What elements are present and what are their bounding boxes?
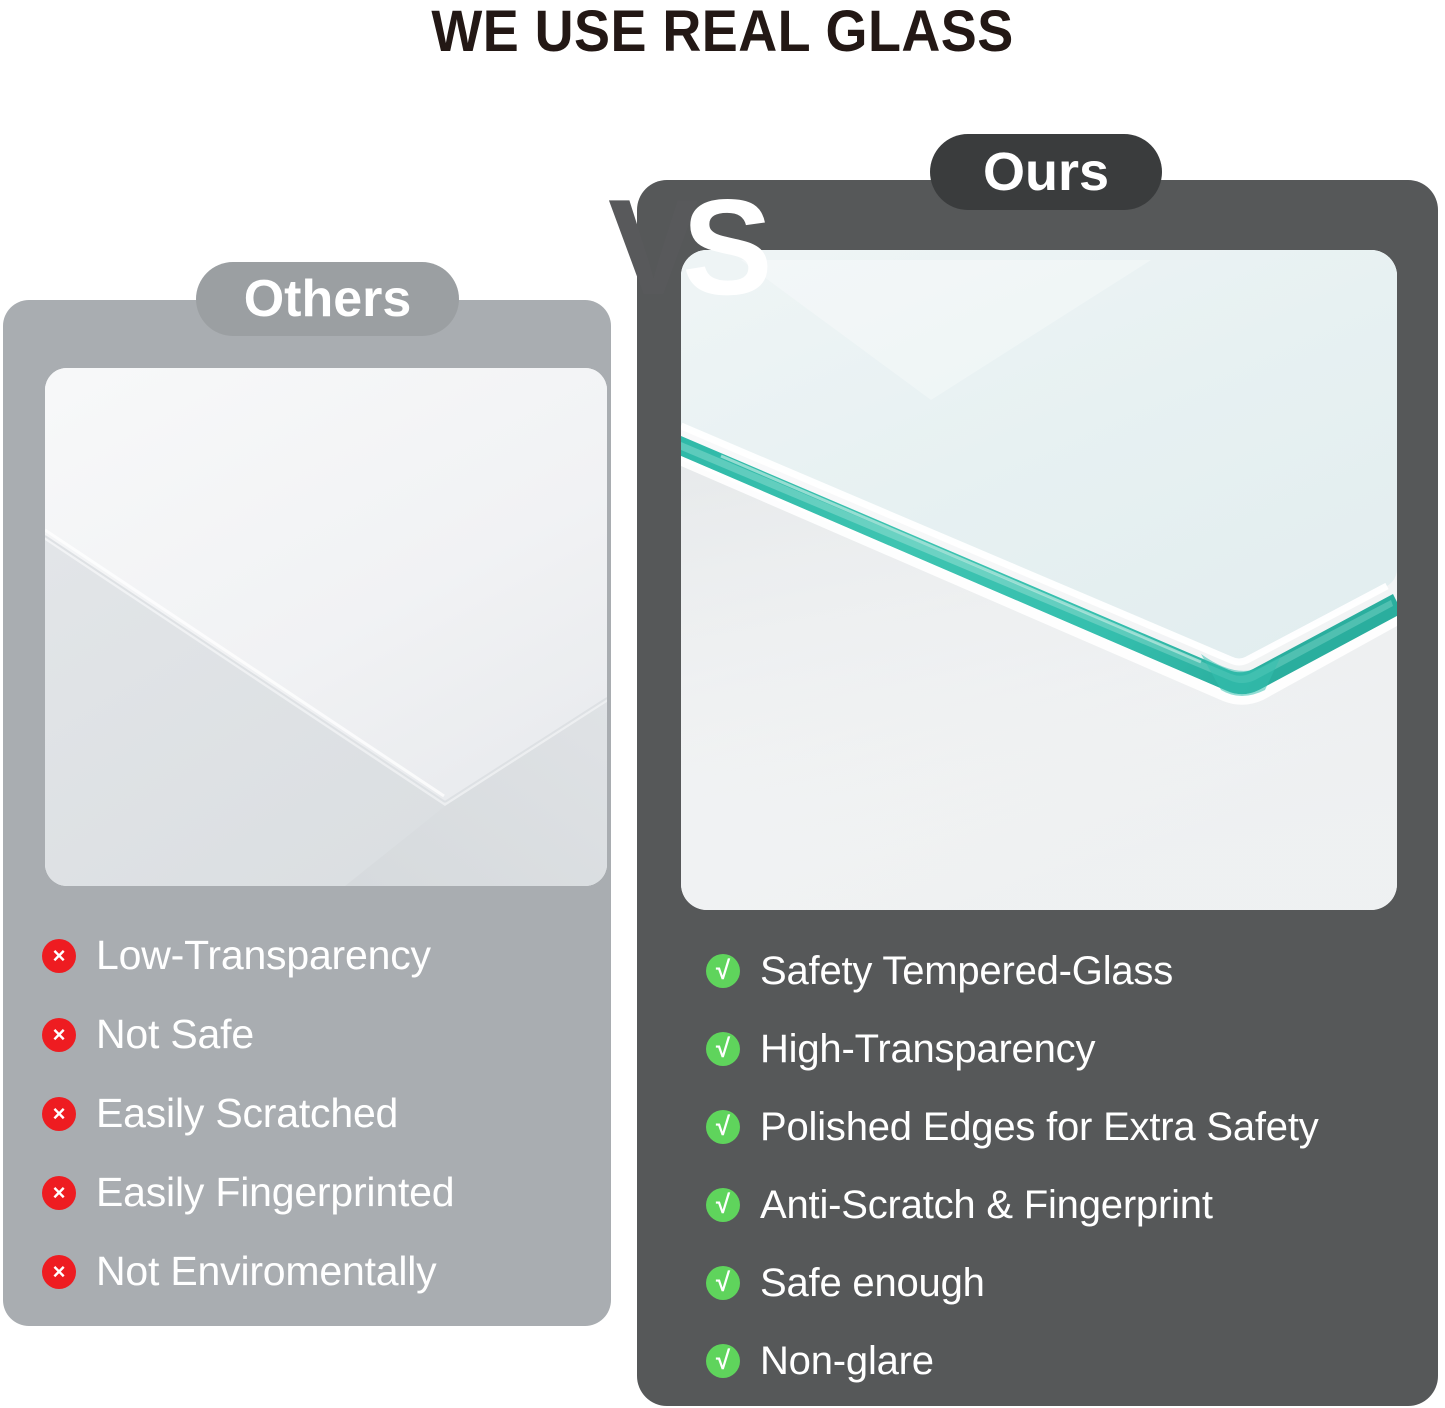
cross-icon: ×: [42, 939, 76, 973]
check-icon: √: [706, 954, 740, 988]
dull-acrylic-sheet-illustration: [45, 368, 607, 886]
others-feature-list: × Low-Transparency × Not Safe × Easily S…: [42, 916, 602, 1311]
list-item: √ High-Transparency: [706, 1010, 1406, 1088]
list-item-label: Non-glare: [760, 1339, 934, 1384]
check-icon: √: [706, 1110, 740, 1144]
list-item-label: Not Enviromentally: [96, 1248, 436, 1295]
list-item-label: Easily Scratched: [96, 1090, 398, 1137]
others-product-photo: [45, 368, 607, 886]
list-item-label: High-Transparency: [760, 1027, 1095, 1072]
ours-badge: Ours: [930, 134, 1162, 210]
cross-icon: ×: [42, 1255, 76, 1289]
list-item: × Easily Scratched: [42, 1074, 602, 1153]
list-item-label: Easily Fingerprinted: [96, 1169, 454, 1216]
check-icon: √: [706, 1188, 740, 1222]
list-item: √ Safety Tempered-Glass: [706, 932, 1406, 1010]
page-title: WE USE REAL GLASS: [51, 2, 1395, 63]
cross-icon: ×: [42, 1176, 76, 1210]
check-icon: √: [706, 1344, 740, 1378]
list-item: × Not Safe: [42, 995, 602, 1074]
cross-icon: ×: [42, 1018, 76, 1052]
list-item: √ Safe enough: [706, 1244, 1406, 1322]
others-badge-label: Others: [244, 269, 412, 329]
ours-feature-list: √ Safety Tempered-Glass √ High-Transpare…: [706, 932, 1406, 1400]
tempered-glass-corner-illustration: [681, 250, 1397, 910]
list-item-label: Anti-Scratch & Fingerprint: [760, 1183, 1213, 1228]
ours-badge-label: Ours: [983, 141, 1109, 203]
list-item: √ Non-glare: [706, 1322, 1406, 1400]
check-icon: √: [706, 1032, 740, 1066]
list-item-label: Not Safe: [96, 1011, 254, 1058]
cross-icon: ×: [42, 1097, 76, 1131]
ours-product-photo: [681, 250, 1397, 910]
list-item: √ Anti-Scratch & Fingerprint: [706, 1166, 1406, 1244]
others-badge: Others: [196, 262, 459, 336]
list-item-label: Polished Edges for Extra Safety: [760, 1105, 1319, 1150]
list-item: √ Polished Edges for Extra Safety: [706, 1088, 1406, 1166]
list-item-label: Safe enough: [760, 1261, 985, 1306]
list-item-label: Low-Transparency: [96, 932, 431, 979]
list-item-label: Safety Tempered-Glass: [760, 949, 1173, 994]
list-item: × Easily Fingerprinted: [42, 1153, 602, 1232]
list-item: × Low-Transparency: [42, 916, 602, 995]
check-icon: √: [706, 1266, 740, 1300]
list-item: × Not Enviromentally: [42, 1232, 602, 1311]
